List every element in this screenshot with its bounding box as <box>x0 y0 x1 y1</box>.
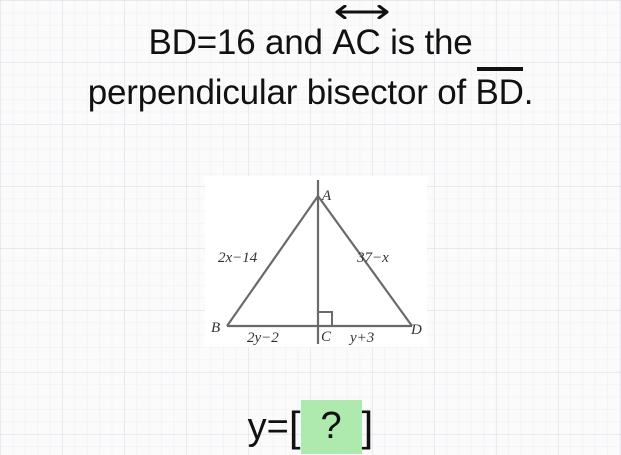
problem-statement-line-1-text-1: BD=16 and <box>148 23 332 62</box>
answer-right-bracket: ] <box>362 403 374 451</box>
problem-statement-line-2: perpendicular bisector of BD. <box>0 67 621 117</box>
geometry-figure: A B C D 2x−14 37−x 2y−2 y+3 <box>205 176 427 347</box>
problem-statement-line-2-text-1: perpendicular bisector of <box>88 73 476 112</box>
side-label-base-left: 2y−2 <box>247 330 279 346</box>
side-label-left-leg: 2x−14 <box>218 250 258 266</box>
vertex-label-c: C <box>321 329 332 345</box>
answer-blank-field[interactable]: ? <box>301 400 362 454</box>
problem-statement-line-1-text-2: is the <box>381 23 473 62</box>
answer-variable-label: y= <box>248 403 289 451</box>
vertex-label-a: A <box>321 188 332 204</box>
vertex-label-b: B <box>211 320 220 336</box>
problem-statement-line-1: BD=16 and AC is the <box>0 18 621 67</box>
side-label-base-right: y+3 <box>348 330 374 346</box>
vertex-label-d: D <box>410 322 422 338</box>
problem-statement-line-2-text-2: . <box>524 73 534 112</box>
overline-bar-icon <box>477 67 523 71</box>
side-label-right-leg: 37−x <box>356 250 389 266</box>
segment-bd-label: BD <box>476 73 524 112</box>
problem-statement: BD=16 and AC is the perpendicular bisect… <box>0 18 621 117</box>
segment-bd-notation: BD <box>476 67 524 117</box>
answer-left-bracket: [ <box>289 403 301 451</box>
line-ac-notation: AC <box>332 18 380 67</box>
triangle-diagram: A B C D 2x−14 37−x 2y−2 y+3 <box>205 176 427 347</box>
line-ac-label: AC <box>332 23 380 62</box>
answer-row: y=[?] <box>0 400 621 454</box>
